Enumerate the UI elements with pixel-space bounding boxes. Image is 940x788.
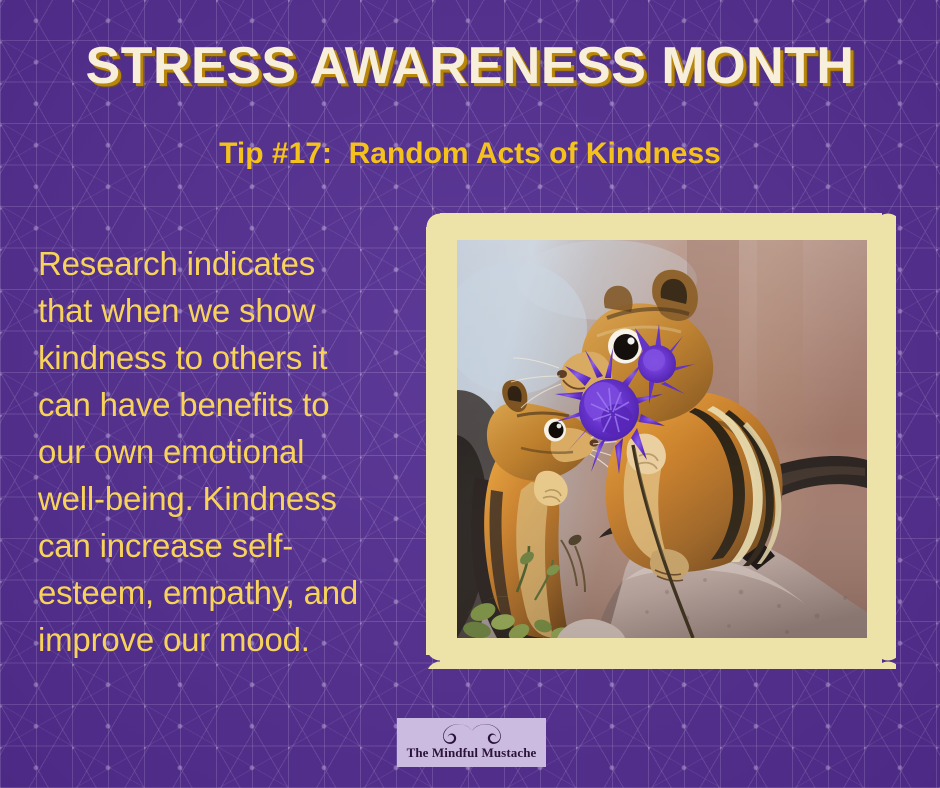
brand-logo[interactable]: The Mindful Mustache xyxy=(397,718,546,767)
tip-subtitle: Tip #17: Random Acts of Kindness xyxy=(0,137,940,171)
body-paragraph: Research indicates that when we show kin… xyxy=(38,240,410,663)
brand-name: The Mindful Mustache xyxy=(407,745,537,761)
stress-awareness-poster: STRESS AWARENESS MONTH Tip #17: Random A… xyxy=(0,0,940,788)
page-title: STRESS AWARENESS MONTH xyxy=(0,36,940,96)
mustache-icon xyxy=(443,724,501,744)
photo-frame xyxy=(426,213,896,669)
chipmunks-photo xyxy=(457,240,867,638)
